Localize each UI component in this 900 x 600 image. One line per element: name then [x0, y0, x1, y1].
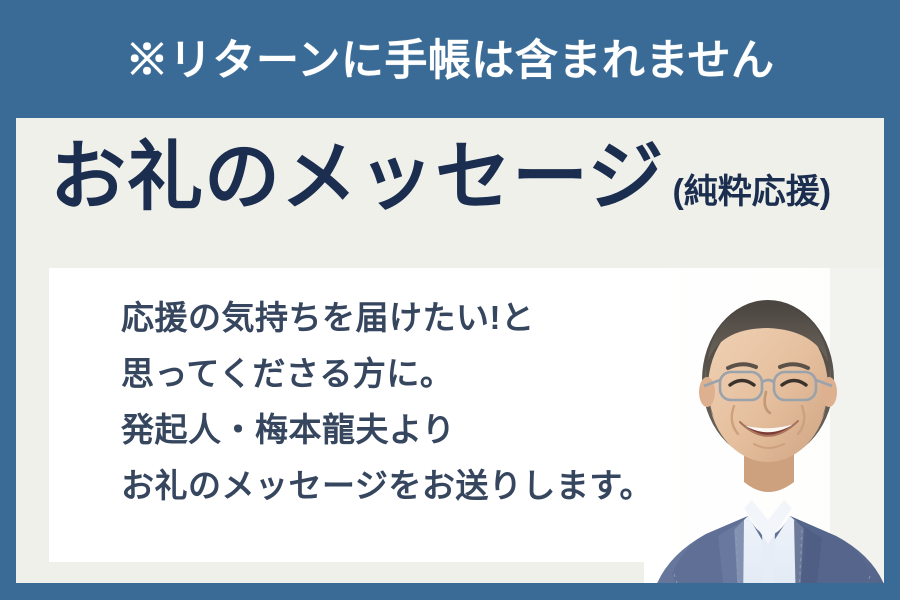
founder-portrait-photo [644, 268, 884, 583]
reward-description-text: 応援の気持ちを届けたい!と 思ってくださる方に。 発起人・梅本龍夫より お礼のメ… [121, 290, 721, 514]
reward-card: お礼のメッセージ (純粋応援) 応援の気持ちを届けたい!と 思ってくださる方に。… [16, 118, 884, 583]
description-line-1: 応援の気持ちを届けたい!と [121, 290, 721, 346]
card-title: お礼のメッセージ [50, 140, 664, 216]
card-title-row: お礼のメッセージ (純粋応援) [50, 140, 860, 250]
description-line-2: 思ってくださる方に。 [121, 346, 721, 402]
description-line-4: お礼のメッセージをお送りします。 [121, 458, 721, 514]
description-line-3: 発起人・梅本龍夫より [121, 402, 721, 458]
founder-portrait-illustration [644, 268, 884, 583]
banner-notice: ※リターンに手帳は含まれません [0, 0, 900, 118]
reward-card-screen: ※リターンに手帳は含まれません お礼のメッセージ (純粋応援) 応援の気持ちを届… [0, 0, 900, 600]
banner-notice-text: ※リターンに手帳は含まれません [125, 40, 774, 83]
card-title-suffix: (純粋応援) [672, 175, 831, 209]
